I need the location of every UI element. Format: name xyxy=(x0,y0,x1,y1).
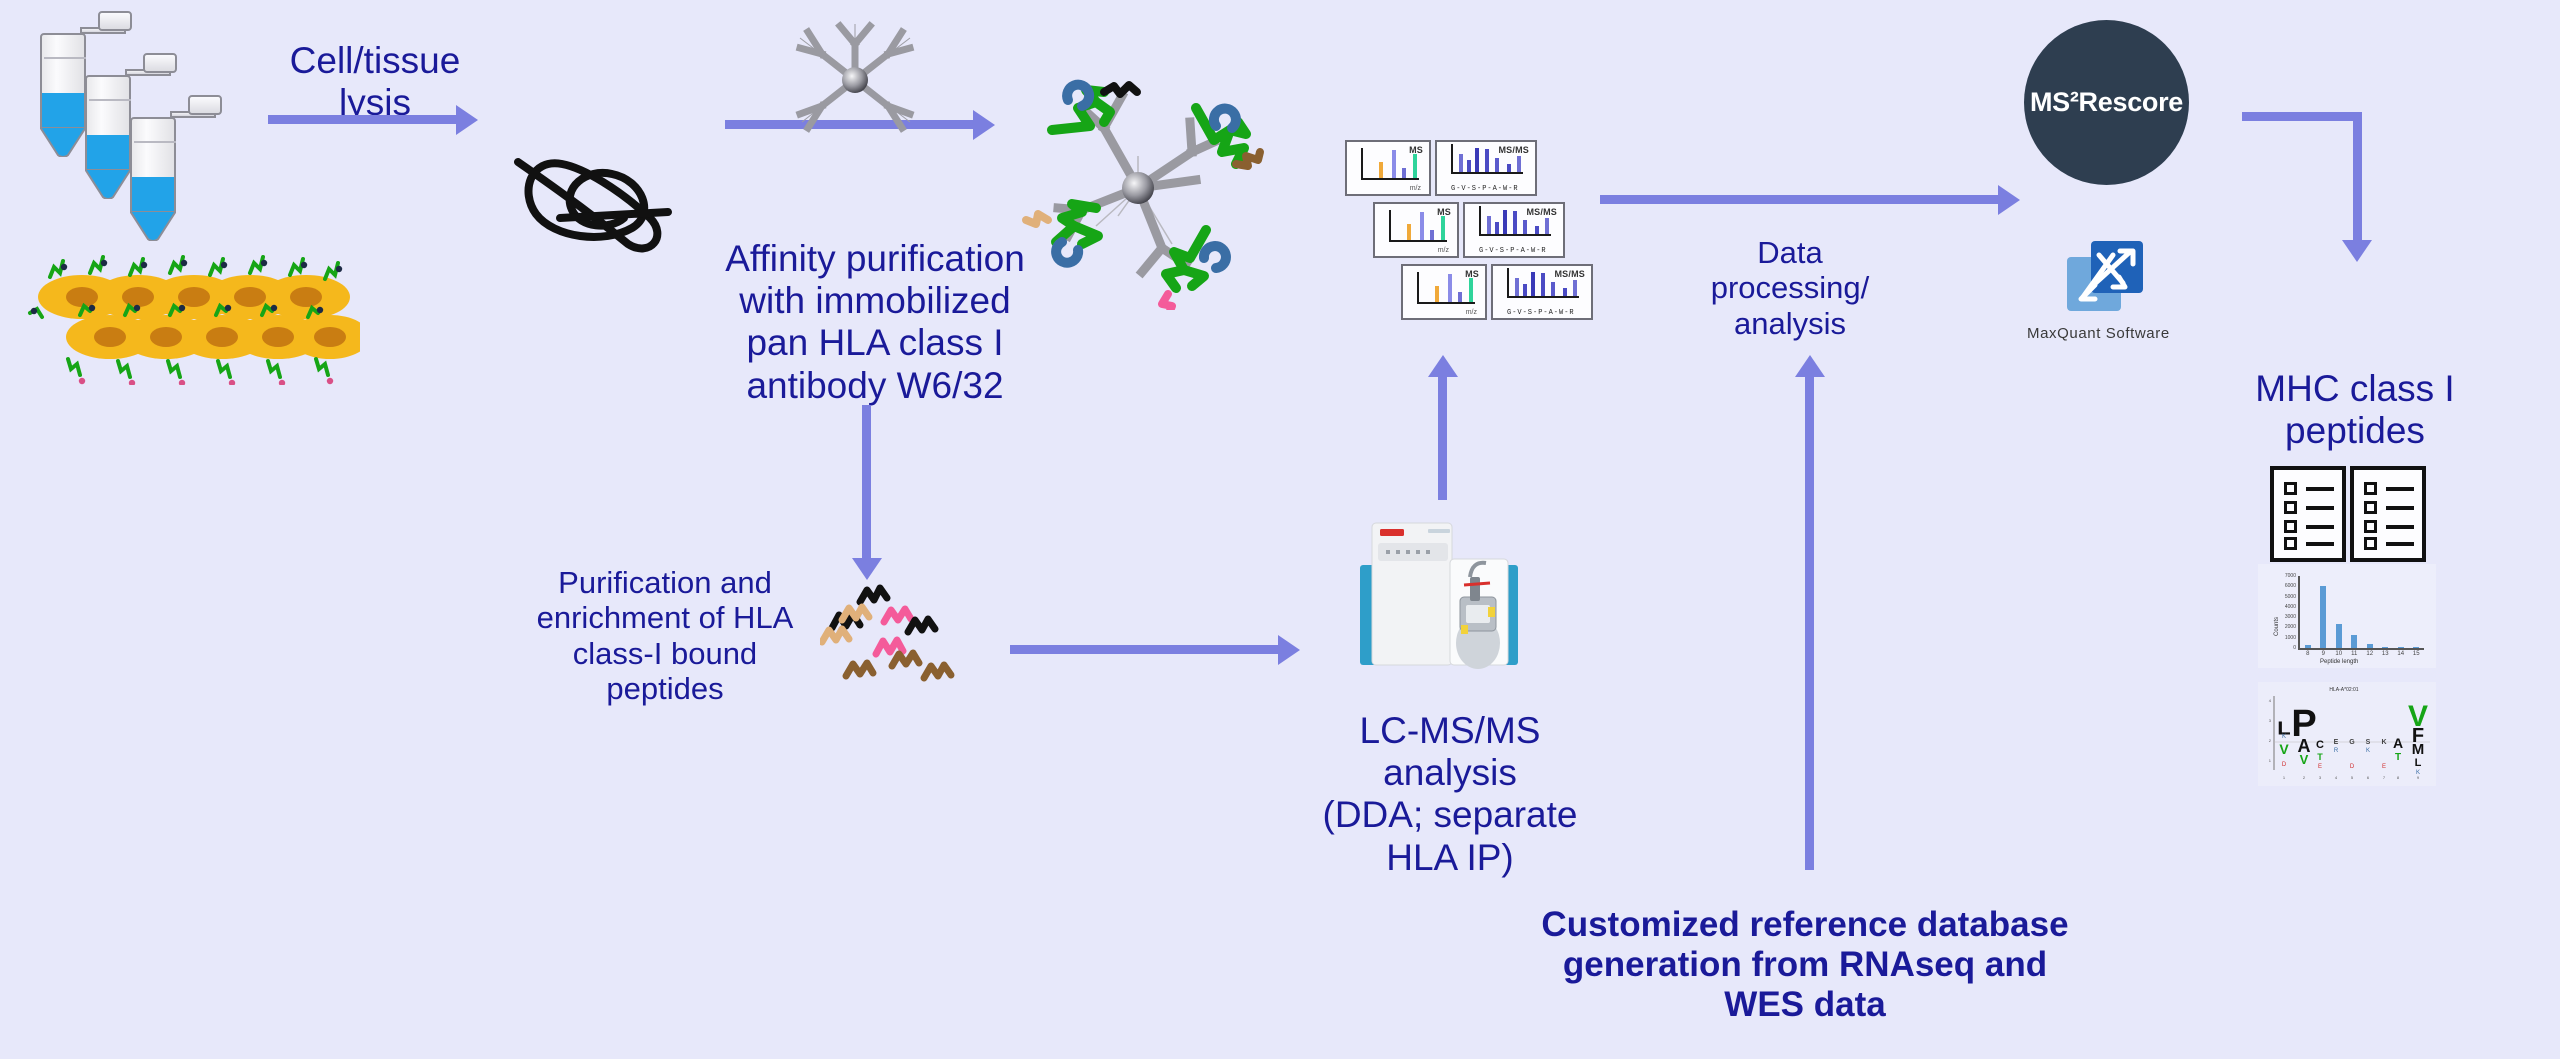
svg-text:7: 7 xyxy=(2383,775,2386,780)
cell-row-top xyxy=(38,275,350,319)
msms-spectrum-panel: MS/MS G-V-S-P-A-W-R xyxy=(1463,202,1565,258)
tube-cap xyxy=(170,109,222,129)
chart-bar xyxy=(2320,586,2326,648)
step-label-lcmsms: LC-MS/MS analysis (DDA; separate HLA IP) xyxy=(1290,710,1610,879)
ms2rescore-label: MS²Rescore xyxy=(2030,87,2183,118)
cell-monolayer xyxy=(20,255,360,385)
msms-peak xyxy=(1513,211,1517,234)
maxquant-label: MaxQuant Software xyxy=(2027,325,2170,342)
tube-cone xyxy=(85,169,131,199)
ms-peak xyxy=(1441,216,1445,240)
msms-panel-title: MS/MS xyxy=(1498,145,1529,155)
sequence-logo-svg: HLA-A*02:01 L V P A V C T E G S K A T V … xyxy=(2258,682,2436,786)
arrow-to-mass-spec xyxy=(1010,645,1280,654)
chart-bar xyxy=(2398,647,2404,648)
msms-peak xyxy=(1535,226,1539,234)
tube-liquid xyxy=(87,135,129,171)
tube-graduation xyxy=(44,57,86,59)
svg-text:A: A xyxy=(2393,735,2403,751)
msms-y-axis xyxy=(1479,206,1481,236)
svg-text:3: 3 xyxy=(2269,718,2272,723)
msms-peak xyxy=(1515,278,1519,296)
chart-x-tick: 15 xyxy=(2409,651,2425,657)
ms-peak xyxy=(1413,154,1417,178)
antibody-bead-hla-complex xyxy=(1000,30,1330,310)
tube-cap-lid xyxy=(188,95,222,115)
chart-y-tick: 1000 xyxy=(2276,635,2296,641)
tube-cap xyxy=(80,25,132,45)
eppendorf-tube xyxy=(130,117,176,235)
sequence-logo-plot: HLA-A*02:01 L V P A V C T E G S K A T V … xyxy=(2258,682,2436,786)
mass-spectrometer-icon xyxy=(1350,515,1530,675)
checkbox xyxy=(2284,501,2297,514)
msms-x-axis xyxy=(1479,234,1551,236)
list-line xyxy=(2386,487,2414,491)
checkbox xyxy=(2364,537,2377,550)
step-label-output: MHC class I peptides xyxy=(2240,368,2470,452)
msms-peptide-sequence: G-V-S-P-A-W-R xyxy=(1479,247,1547,255)
msms-peak xyxy=(1475,148,1479,172)
step-label-purification: Purification and enrichment of HLA class… xyxy=(520,565,810,706)
arrow-to-spectra xyxy=(1438,375,1447,500)
ms-peak xyxy=(1407,224,1411,240)
svg-text:K: K xyxy=(2366,748,2370,754)
chart-x-tick: 10 xyxy=(2331,651,2347,657)
svg-text:E: E xyxy=(2382,764,2386,770)
magnetic-bead xyxy=(1122,172,1154,204)
cell-row-bottom xyxy=(66,315,360,359)
chart-x-tick: 8 xyxy=(2300,651,2316,657)
checkbox xyxy=(2284,520,2297,533)
list-line xyxy=(2386,506,2414,510)
tube-cone xyxy=(40,127,86,157)
chart-y-tick: 0 xyxy=(2276,645,2296,651)
peptide-list-icon xyxy=(2350,466,2426,562)
step-label-processing: Data processing/ analysis xyxy=(1680,235,1900,341)
step-label-database: Customized reference database generation… xyxy=(1500,905,2110,1025)
ms-peak xyxy=(1430,230,1434,240)
svg-text:2: 2 xyxy=(2303,775,2306,780)
svg-text:E: E xyxy=(2334,739,2339,746)
maxquant-icon xyxy=(2065,237,2149,321)
ms-mz-label: m/z xyxy=(1466,309,1477,316)
maxquant-logo: MaxQuant Software xyxy=(2065,237,2155,327)
tube-liquid xyxy=(132,177,174,213)
tube-cap xyxy=(125,67,177,87)
chart-bar xyxy=(2336,624,2342,648)
tube-cap-lid xyxy=(143,53,177,73)
ms-peak xyxy=(1420,212,1424,240)
msms-peptide-sequence: G-V-S-P-A-W-R xyxy=(1507,309,1575,317)
chart-y-tick: 6000 xyxy=(2276,583,2296,589)
eppendorf-tubes-group xyxy=(30,25,220,185)
msms-peak xyxy=(1503,210,1507,234)
msms-spectrum-panel: MS/MS G-V-S-P-A-W-R xyxy=(1435,140,1537,196)
ms2rescore-logo: MS²Rescore xyxy=(2024,20,2189,185)
chart-x-axis xyxy=(2298,648,2424,650)
ms-mz-label: m/z xyxy=(1438,247,1449,254)
list-line xyxy=(2306,487,2334,491)
eppendorf-tube xyxy=(40,33,86,151)
chart-y-tick: 3000 xyxy=(2276,614,2296,620)
svg-text:V: V xyxy=(2279,741,2289,757)
tube-graduation xyxy=(134,141,176,143)
svg-text:3: 3 xyxy=(2319,775,2322,780)
msms-peak xyxy=(1507,164,1511,172)
workflow-diagram: Cell/tissue lysis Affinity purification … xyxy=(0,0,2560,1059)
checkbox xyxy=(2364,520,2377,533)
ms-y-axis xyxy=(1417,272,1419,304)
chart-x-label: Peptide length xyxy=(2320,659,2358,665)
chart-bars xyxy=(2300,576,2424,648)
msms-peak xyxy=(1495,222,1499,234)
tube-liquid xyxy=(42,93,84,129)
checkbox xyxy=(2284,482,2297,495)
arrow-data-processing xyxy=(1600,195,2000,204)
msms-peak xyxy=(1545,218,1549,234)
tube-graduation xyxy=(89,99,131,101)
checkbox xyxy=(2364,501,2377,514)
checkbox xyxy=(2364,482,2377,495)
chart-x-tick: 13 xyxy=(2378,651,2394,657)
svg-text:K: K xyxy=(2282,734,2286,740)
spectra-group: MS m/z MS/MS G-V-S-P-A-W-R MS xyxy=(1345,140,1615,360)
ms-x-axis xyxy=(1389,240,1447,242)
ms-spectrum-panel: MS m/z xyxy=(1345,140,1431,196)
svg-text:R: R xyxy=(2334,748,2339,754)
cell-lysate-icon xyxy=(500,140,680,260)
arrow-to-output xyxy=(2242,112,2372,322)
hla-bottom-left xyxy=(1026,204,1098,263)
svg-text:8: 8 xyxy=(2397,775,2400,780)
chart-bar xyxy=(2367,644,2373,648)
logo-title: HLA-A*02:01 xyxy=(2329,687,2358,693)
svg-text:G: G xyxy=(2349,739,2355,746)
ms-y-axis xyxy=(1389,210,1391,242)
svg-text:T: T xyxy=(2317,752,2323,762)
msms-spectrum-panel: MS/MS G-V-S-P-A-W-R xyxy=(1491,264,1593,320)
svg-text:2: 2 xyxy=(2269,738,2272,743)
msms-panel-title: MS/MS xyxy=(1526,207,1557,217)
ms-x-axis xyxy=(1361,178,1419,180)
peptide-list-icon xyxy=(2270,466,2346,562)
list-line xyxy=(2306,525,2334,529)
chart-x-tick: 11 xyxy=(2347,651,2363,657)
svg-text:4: 4 xyxy=(2335,775,2338,780)
peptide-length-chart: Counts 01000200030004000500060007000 891… xyxy=(2258,564,2436,668)
chart-bar xyxy=(2351,635,2357,648)
svg-text:D: D xyxy=(2282,762,2287,768)
ms-peak xyxy=(1402,168,1406,178)
svg-text:6: 6 xyxy=(2367,775,2370,780)
ms-x-axis xyxy=(1417,302,1475,304)
msms-peak xyxy=(1517,156,1521,172)
msms-y-axis xyxy=(1451,144,1453,174)
ms-peak xyxy=(1379,162,1383,178)
ms-peak xyxy=(1448,274,1452,302)
list-line xyxy=(2306,506,2334,510)
hla-top-right xyxy=(1196,108,1260,166)
msms-y-axis xyxy=(1507,268,1509,298)
list-line xyxy=(2386,542,2414,546)
msms-peak xyxy=(1523,220,1527,234)
ms-spectrum-panel: MS m/z xyxy=(1373,202,1459,258)
tube-cap-lid xyxy=(98,11,132,31)
svg-text:4: 4 xyxy=(2269,698,2272,703)
msms-peak xyxy=(1467,160,1471,172)
msms-peak xyxy=(1541,273,1545,296)
svg-text:C: C xyxy=(2316,739,2324,751)
step-label-affinity: Affinity purification with immobilized p… xyxy=(720,238,1030,407)
ms-mz-label: m/z xyxy=(1410,185,1421,192)
svg-text:T: T xyxy=(2395,752,2401,763)
arrow-lysis xyxy=(268,115,458,124)
svg-text:V: V xyxy=(2300,752,2309,767)
msms-x-axis xyxy=(1507,296,1579,298)
svg-text:1: 1 xyxy=(2283,775,2286,780)
chart-bar xyxy=(2413,647,2419,648)
msms-peak xyxy=(1495,158,1499,172)
chart-y-tick: 7000 xyxy=(2276,573,2296,579)
ms-peak xyxy=(1392,150,1396,178)
free-peptides-icon xyxy=(820,580,960,700)
chart-bar xyxy=(2305,645,2311,648)
ms-peak xyxy=(1469,278,1473,302)
chart-x-tick: 14 xyxy=(2393,651,2409,657)
svg-text:L: L xyxy=(2415,757,2422,769)
chart-x-tick: 12 xyxy=(2362,651,2378,657)
arrow-purification-down xyxy=(862,405,871,560)
msms-peak xyxy=(1485,149,1489,172)
svg-text:M: M xyxy=(2412,741,2425,758)
chart-y-tick: 4000 xyxy=(2276,604,2296,610)
svg-text:E: E xyxy=(2318,764,2322,770)
msms-peptide-sequence: G-V-S-P-A-W-R xyxy=(1451,185,1519,193)
ms-spectrum-panel: MS m/z xyxy=(1401,264,1487,320)
ms-y-axis xyxy=(1361,148,1363,180)
ms-peak xyxy=(1435,286,1439,302)
checkbox xyxy=(2284,537,2297,550)
chart-x-tick: 9 xyxy=(2316,651,2332,657)
svg-text:D: D xyxy=(2350,764,2355,770)
msms-panel-title: MS/MS xyxy=(1554,269,1585,279)
eppendorf-tube xyxy=(85,75,131,193)
msms-peak xyxy=(1459,154,1463,172)
msms-peak xyxy=(1563,288,1567,296)
svg-text:K: K xyxy=(2381,739,2386,746)
msms-x-axis xyxy=(1451,172,1523,174)
chart-y-tick: 2000 xyxy=(2276,624,2296,630)
antibody-bead-complex xyxy=(760,10,950,150)
svg-text:S: S xyxy=(2366,739,2371,746)
chart-bar xyxy=(2382,647,2388,648)
msms-peak xyxy=(1573,280,1577,296)
msms-peak xyxy=(1487,216,1491,234)
msms-peak xyxy=(1531,272,1535,296)
magnetic-bead xyxy=(842,67,868,93)
arrow-database-to-processing xyxy=(1805,375,1814,870)
ms-peak xyxy=(1458,292,1462,302)
svg-text:5: 5 xyxy=(2351,775,2354,780)
list-line xyxy=(2386,525,2414,529)
chart-y-tick: 5000 xyxy=(2276,594,2296,600)
msms-peak xyxy=(1551,282,1555,296)
svg-text:1: 1 xyxy=(2269,758,2272,763)
tube-cone xyxy=(130,211,176,241)
list-line xyxy=(2306,542,2334,546)
msms-peak xyxy=(1523,284,1527,296)
